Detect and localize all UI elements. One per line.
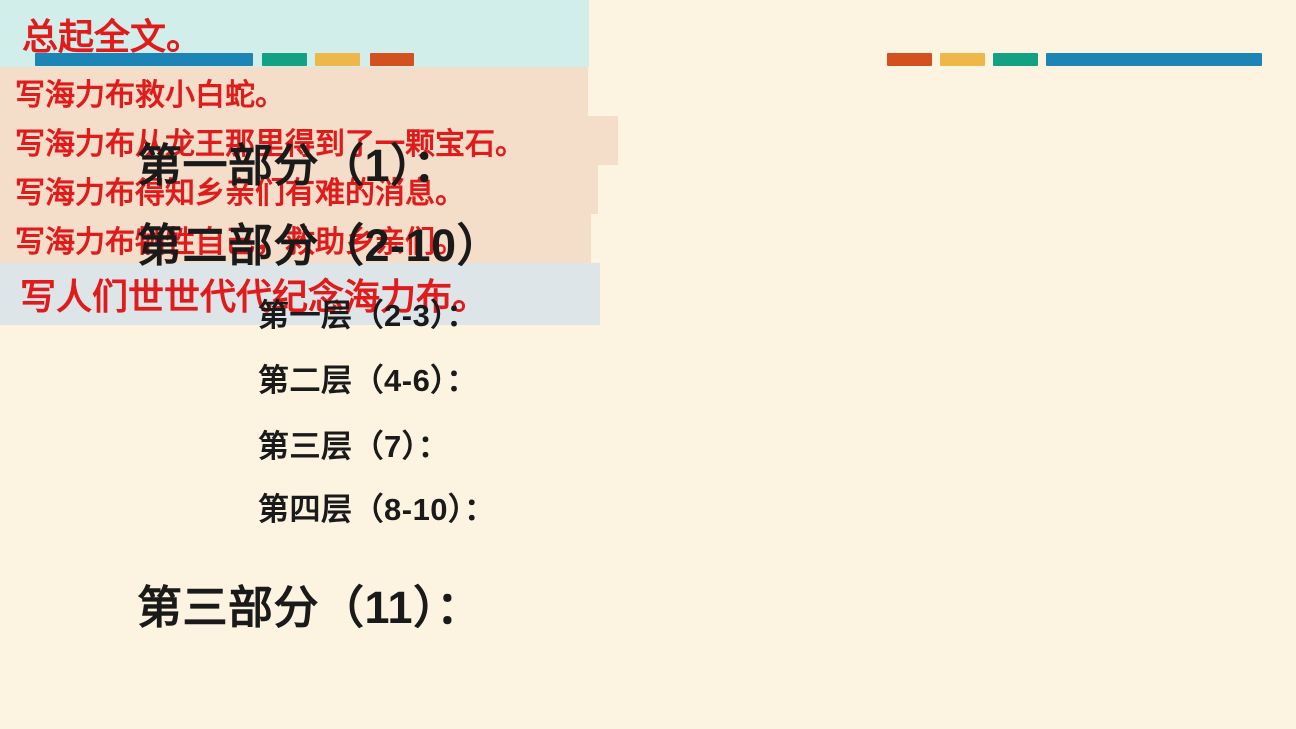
decor-bar-left-yellow [315, 53, 360, 66]
decor-bar-left-orange [370, 53, 414, 66]
outline-label-part-2: 第二部分（2-10） [137, 223, 502, 268]
decor-bar-left-blue [35, 53, 253, 66]
outline-label-layer-2: 第二层（4-6）： [258, 365, 478, 396]
outline-label-layer-1: 第一层（2-3）： [258, 300, 478, 331]
decor-bar-right-blue [1046, 53, 1262, 66]
decor-bar-left-teal [262, 53, 307, 66]
decor-bar-right-yellow [940, 53, 985, 66]
slide-canvas: 第一部分（1）： 第二部分（2-10） 第一层（2-3）： 第二层（4-6）： … [0, 0, 1296, 729]
outline-label-layer-3: 第三层（7）： [258, 431, 449, 462]
decor-bar-right-orange [887, 53, 932, 66]
content-text-layer-1: 写海力布救小白蛇。 [15, 70, 285, 114]
outline-label-layer-4: 第四层（8-10）： [258, 494, 496, 525]
outline-label-part-3: 第三部分（11）： [137, 585, 482, 630]
outline-label-part-1: 第一部分（1）： [137, 143, 459, 188]
content-box-layer-1: 写海力布救小白蛇。 [0, 67, 588, 116]
decor-bar-right-teal [993, 53, 1038, 66]
content-text-part-1: 总起全文。 [22, 8, 202, 60]
